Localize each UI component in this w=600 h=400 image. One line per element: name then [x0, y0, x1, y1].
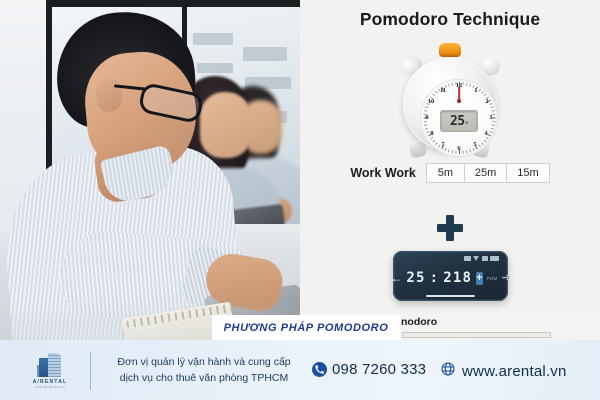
footer-description-line2: dịch vụ cho thuê văn phòng TPHCM	[104, 370, 304, 386]
page-title: Pomodoro Technique	[300, 9, 600, 30]
timer-tick	[491, 118, 496, 119]
footer-phone[interactable]: 098 7260 333	[312, 361, 426, 378]
globe-icon	[440, 361, 456, 382]
timer-tick	[459, 149, 460, 154]
timer-tick	[432, 94, 435, 97]
smartphone-icon[interactable]: ← 25 : 218 + POM ➔	[393, 251, 508, 301]
building-icon	[37, 353, 63, 377]
timer-tick	[424, 117, 429, 118]
timer-lcd-value: 25	[450, 114, 465, 129]
brand-tagline: Office Rental Service	[35, 386, 66, 389]
timer-tick	[484, 140, 487, 143]
building-shape	[243, 47, 287, 61]
screenshot-canvas: Pomodoro Technique 12 1 2 3 4 5 6 7 8	[0, 0, 600, 400]
timer-tick	[492, 110, 495, 112]
timer-lcd-unit: m	[466, 121, 468, 125]
timer-tick	[491, 106, 494, 108]
timer-tick	[469, 84, 471, 87]
bars-icon	[464, 256, 471, 261]
timer-tick	[466, 150, 468, 153]
timer-tick	[469, 149, 471, 152]
timer-tick	[452, 150, 454, 153]
timer-lcd-display: 25 m	[441, 111, 477, 131]
phone-row: ← 25 : 218 + POM ➔	[300, 200, 600, 310]
timer-tick	[459, 82, 460, 87]
building-part	[48, 353, 61, 377]
duration-option-15m[interactable]: 15m	[507, 164, 548, 182]
duration-option-5m[interactable]: 5m	[427, 164, 465, 182]
duration-segmented-control[interactable]: 5m 25m 15m	[426, 163, 550, 183]
timer-tick	[484, 94, 487, 97]
brand-logo[interactable]: A/RENTAL Office Rental Service	[22, 352, 78, 390]
timer-tick	[435, 142, 438, 145]
brand-name: A/RENTAL	[33, 379, 68, 385]
timer-tick	[444, 85, 446, 88]
timer-tick	[481, 91, 484, 94]
overlay-label-text: PHƯƠNG PHÁP POMODORO	[224, 322, 389, 334]
timer-tick	[489, 103, 492, 105]
phone-small-label: POM	[487, 276, 498, 281]
wifi-icon	[473, 256, 479, 261]
footer-description-line1: Đơn vị quản lý vận hành và cung cấp	[104, 354, 304, 370]
arrow-left-icon[interactable]: ←	[390, 272, 402, 284]
window-frame-mullion	[46, 0, 52, 175]
signal-icon	[482, 256, 488, 261]
phone-separator: :	[430, 270, 440, 286]
timer-tick	[424, 121, 427, 122]
timer-tick	[444, 148, 446, 151]
timer-tick	[462, 82, 463, 85]
phone-home-indicator	[426, 295, 475, 297]
phone-plus-button[interactable]: +	[476, 272, 482, 285]
arrow-right-icon[interactable]: ➔	[501, 273, 510, 284]
footer-website[interactable]: www.arental.vn	[440, 361, 567, 382]
duration-option-25m[interactable]: 25m	[465, 164, 507, 182]
office-photo	[0, 0, 300, 340]
timer-tick	[455, 82, 456, 85]
timer-tick	[448, 84, 450, 87]
timer-knob[interactable]	[439, 43, 461, 57]
phone-seconds: 218	[443, 270, 472, 286]
timer-tick	[432, 140, 435, 143]
footer-website-url: www.arental.vn	[462, 363, 567, 380]
phone-timer-display: ← 25 : 218 + POM ➔	[393, 267, 508, 289]
work-label: Work Work	[350, 166, 416, 180]
window-frame-top	[46, 0, 300, 7]
footer-description: Đơn vị quản lý vận hành và cung cấp dịch…	[104, 354, 304, 386]
building-shape	[193, 33, 233, 45]
footer-phone-number: 098 7260 333	[332, 361, 426, 378]
timer-tick	[462, 151, 463, 154]
timer-tick	[424, 114, 427, 115]
timer-tick	[424, 124, 427, 126]
timer-dial: 12 1 2 3 4 5 6 7 8 9 10 11 25 m	[420, 79, 498, 157]
building-shape	[197, 63, 233, 73]
kitchen-timer-icon: 12 1 2 3 4 5 6 7 8 9 10 11 25 m	[394, 43, 506, 161]
footer-divider	[90, 352, 91, 390]
person-two-face	[200, 92, 252, 158]
timer-tick	[481, 142, 484, 145]
timer-hand-dot	[457, 99, 461, 103]
phone-status-bar	[464, 256, 500, 261]
timer-tick	[448, 149, 450, 152]
phone-minutes: 25	[406, 270, 425, 286]
timer-tick	[455, 151, 456, 154]
timer-tick	[435, 91, 438, 94]
timer-tick	[424, 110, 427, 112]
timer-tick	[491, 128, 494, 130]
overlay-label: PHƯƠNG PHÁP POMODORO	[212, 315, 400, 340]
work-duration-row: Work Work 5m 25m 15m	[300, 163, 600, 183]
pomodoro-panel: Pomodoro Technique 12 1 2 3 4 5 6 7 8	[300, 0, 600, 340]
timer-tick	[466, 83, 468, 86]
battery-icon	[490, 256, 499, 261]
timer-tick	[492, 121, 495, 122]
timer-tick	[430, 137, 433, 140]
partial-card-title: nodoro	[401, 316, 437, 328]
timer-tick	[492, 124, 495, 126]
phone-icon	[312, 362, 327, 377]
timer-body: 12 1 2 3 4 5 6 7 8 9 10 11 25 m	[403, 57, 497, 151]
timer-tick	[425, 106, 428, 108]
progress-bar	[402, 332, 551, 338]
timer-tick	[452, 83, 454, 86]
